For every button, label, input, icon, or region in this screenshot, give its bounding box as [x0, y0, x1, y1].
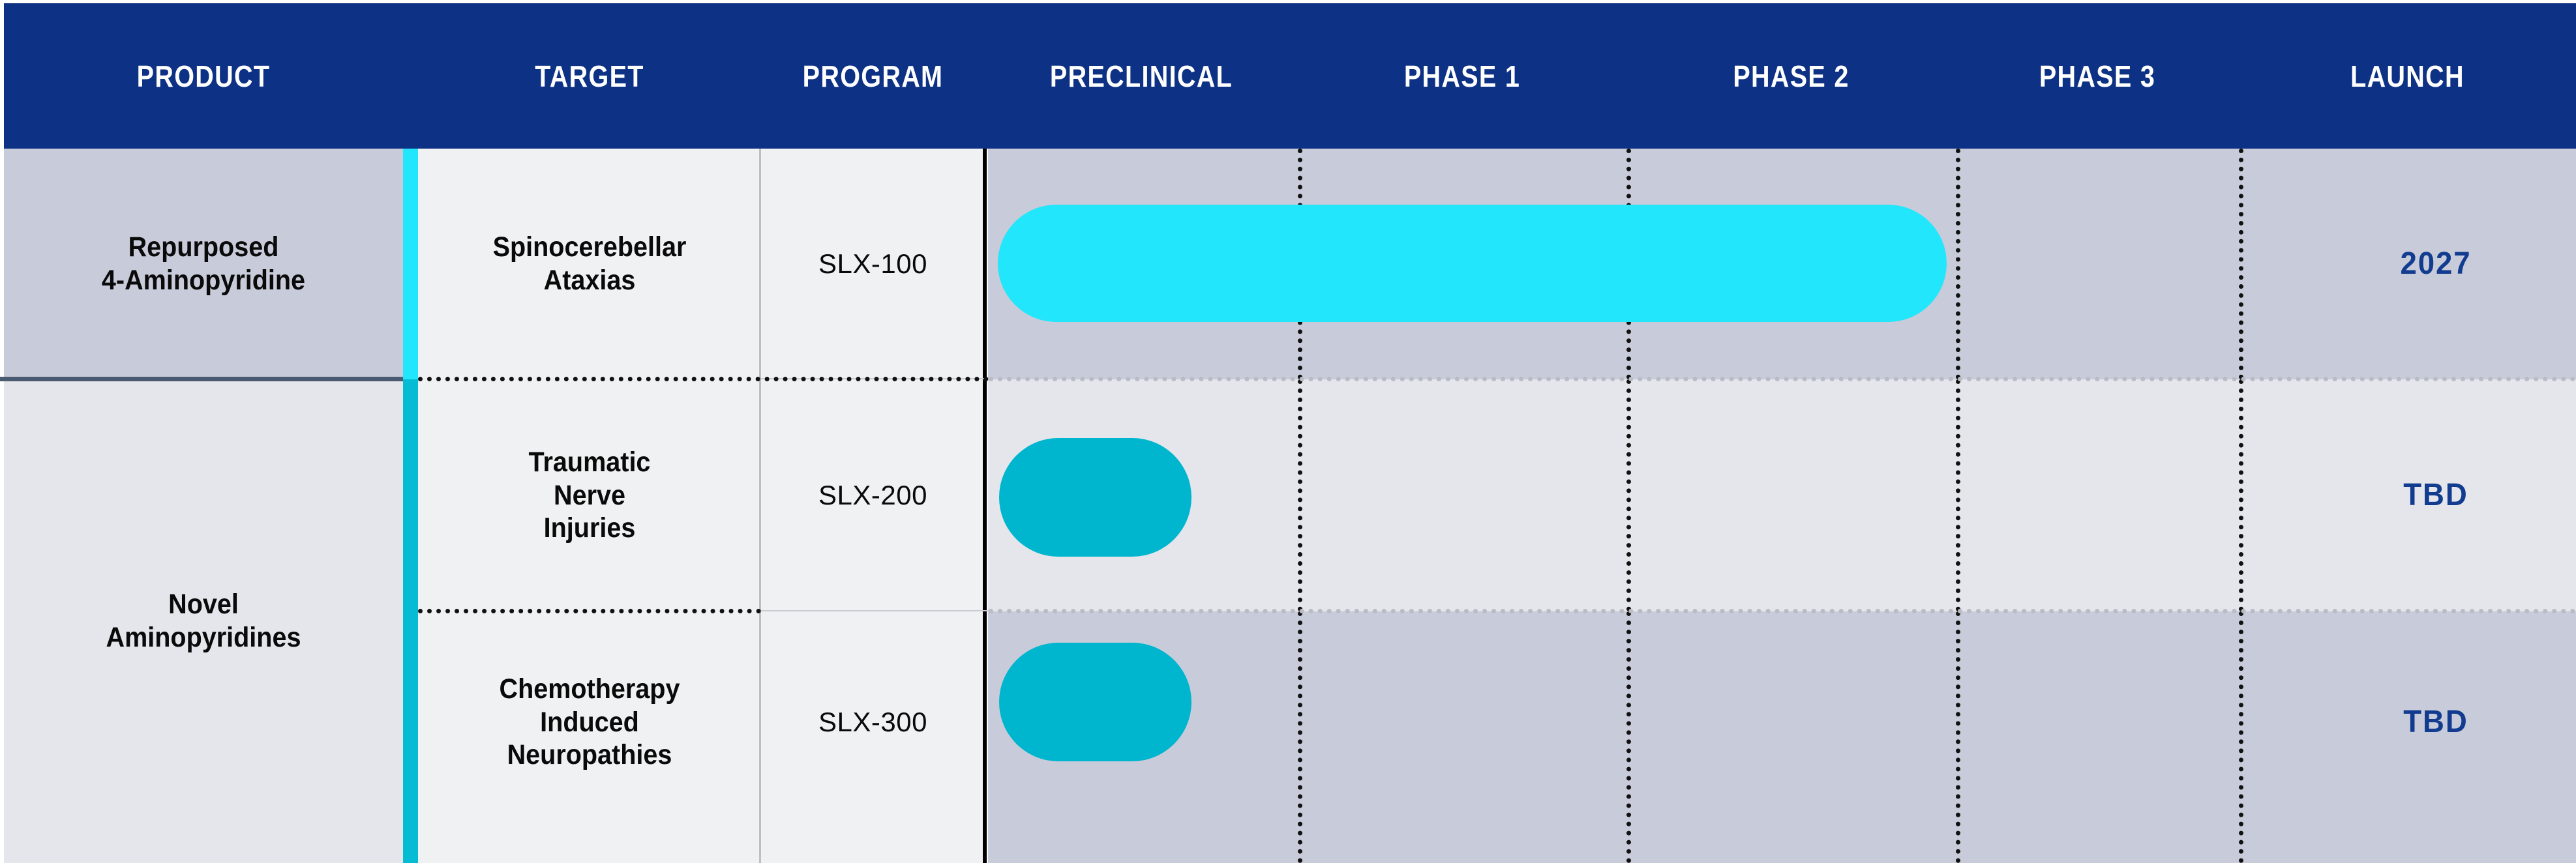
- row3-timeline-cell: [988, 611, 2296, 863]
- row1-row2-solid-divider: [0, 377, 403, 381]
- row3-launch-divider: [2239, 611, 2243, 863]
- product-group2-line2: Aminopyridines: [106, 621, 301, 654]
- row1-target-line2: Ataxias: [493, 264, 687, 297]
- header-program: PROGRAM: [777, 3, 969, 149]
- row3-program-label: SLX-300: [761, 611, 985, 833]
- row3-target-line1: Chemotherapy: [499, 673, 680, 706]
- row3-progress-bar: [999, 643, 1191, 761]
- header-target: TARGET: [442, 3, 737, 149]
- row2-target-label: Traumatic Nerve Injuries: [432, 379, 747, 611]
- row2-phase3-divider: [1956, 379, 1960, 611]
- row1-launch-label: 2027: [2303, 149, 2569, 379]
- row2-progress-bar: [999, 438, 1191, 557]
- header-preclinical: PRECLINICAL: [1007, 3, 1276, 149]
- header-phase2: PHASE 2: [1649, 3, 1932, 149]
- row1-progress-bar: [998, 205, 1947, 322]
- row1-row2-dotted-divider-right: [989, 377, 2576, 381]
- row2-target-line2: Nerve: [529, 479, 651, 512]
- row1-target-label: Spinocerebellar Ataxias: [432, 149, 747, 379]
- header-product: PRODUCT: [32, 3, 375, 149]
- row2-phase1-divider: [1298, 379, 1302, 611]
- row1-phase3-divider: [1956, 149, 1960, 379]
- row3-accent-stripe: [403, 611, 418, 863]
- row1-program-label: SLX-100: [761, 149, 985, 379]
- row3-phase2-divider: [1626, 611, 1631, 863]
- row3-target-line2: Induced: [499, 706, 680, 739]
- row1-accent-stripe: [403, 149, 418, 379]
- header-launch: LAUNCH: [2262, 3, 2553, 149]
- row2-target-line3: Injuries: [529, 512, 651, 545]
- row1-product-label: Repurposed 4-Aminopyridine: [20, 149, 387, 379]
- row2-target-line1: Traumatic: [529, 446, 651, 479]
- row2-launch-divider: [2239, 379, 2243, 611]
- header-phase3: PHASE 3: [1975, 3, 2219, 149]
- row2-program-label: SLX-200: [761, 379, 985, 611]
- row3-phase3-divider: [1956, 611, 1960, 863]
- row1-row2-dotted-divider-left: [418, 377, 989, 381]
- row2-phase2-divider: [1626, 379, 1631, 611]
- product-group-novel-aminopyridines: Novel Aminopyridines: [20, 379, 387, 863]
- row1-target-line1: Spinocerebellar: [493, 231, 687, 264]
- pipeline-row-1: Repurposed 4-Aminopyridine Spinocerebell…: [0, 149, 2576, 379]
- row1-product-line1: Repurposed: [102, 231, 305, 264]
- row2-row3-dotted-divider-right: [989, 609, 2576, 613]
- row2-row3-gray-divider: [761, 610, 989, 611]
- product-group2-line1: Novel: [106, 588, 301, 621]
- row1-product-line2: 4-Aminopyridine: [102, 264, 305, 297]
- row3-target-line3: Neuropathies: [499, 739, 680, 772]
- pipeline-header: PRODUCT TARGET PROGRAM PRECLINICAL PHASE…: [4, 3, 2576, 149]
- header-phase1: PHASE 1: [1321, 3, 1603, 149]
- row3-phase1-divider: [1298, 611, 1302, 863]
- row3-launch-label: TBD: [2303, 611, 2569, 833]
- row1-launch-divider: [2239, 149, 2243, 379]
- pipeline-chart: Chemotherapy Induced Neuropathies SLX-30…: [0, 0, 2576, 863]
- row2-row3-dotted-divider-left: [418, 609, 761, 613]
- row2-accent-stripe: [403, 379, 418, 611]
- row3-target-label: Chemotherapy Induced Neuropathies: [432, 611, 747, 833]
- row2-launch-label: TBD: [2303, 379, 2569, 611]
